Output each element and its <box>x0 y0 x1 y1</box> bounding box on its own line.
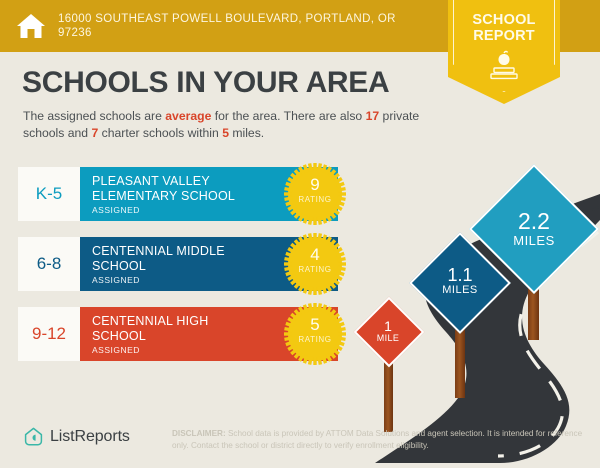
badge-title-line2: REPORT <box>448 28 560 44</box>
rating-burst: 9 RATING <box>284 163 346 225</box>
school-name: CENTENNIAL MIDDLE SCHOOL <box>92 244 262 273</box>
school-row[interactable]: 9-12 CENTENNIAL HIGH SCHOOL ASSIGNED <box>18 307 338 361</box>
subtitle-part1: The assigned schools are <box>23 109 165 123</box>
starburst-icon <box>284 163 346 225</box>
footer: ListReports DISCLAIMER: School data is p… <box>0 416 600 463</box>
distance-sign-3: 2.2 MILES <box>470 178 598 328</box>
rating-value: 4 <box>284 246 346 263</box>
subtitle-part5: miles. <box>229 126 264 140</box>
disclaimer-text: DISCLAIMER: School data is provided by A… <box>172 428 584 451</box>
school-row[interactable]: 6-8 CENTENNIAL MIDDLE SCHOOL ASSIGNED <box>18 237 338 291</box>
school-name: CENTENNIAL HIGH SCHOOL <box>92 314 262 343</box>
disclaimer-body: School data is provided by ATTOM Data So… <box>172 429 582 450</box>
property-address: 16000 SOUTHEAST POWELL BOULEVARD, PORTLA… <box>58 12 408 40</box>
subtitle-highlight-radius: 5 <box>222 126 229 140</box>
listreports-house-pin-icon <box>24 427 43 447</box>
grade-label: 9-12 <box>32 324 66 344</box>
house-icon <box>16 12 46 40</box>
subtitle-highlight-private-count: 17 <box>366 109 380 123</box>
badge-title-line1: SCHOOL <box>448 12 560 28</box>
subtitle-part4: charter schools within <box>98 126 222 140</box>
school-list: K-5 PLEASANT VALLEY ELEMENTARY SCHOOL AS… <box>18 167 338 377</box>
grade-badge: 6-8 <box>18 237 80 291</box>
school-report-badge: SCHOOL REPORT <box>448 0 560 104</box>
page-subtitle: The assigned schools are average for the… <box>23 108 423 142</box>
grade-label: 6-8 <box>37 254 62 274</box>
grade-label: K-5 <box>36 184 62 204</box>
starburst-icon <box>284 233 346 295</box>
listreports-logo-text: ListReports <box>50 428 130 446</box>
sign-value: 2.2 <box>470 210 598 233</box>
grade-badge: 9-12 <box>18 307 80 361</box>
disclaimer-label: DISCLAIMER: <box>172 429 226 438</box>
rating-value: 9 <box>284 176 346 193</box>
school-name: PLEASANT VALLEY ELEMENTARY SCHOOL <box>92 174 262 203</box>
rating-label: RATING <box>284 265 346 274</box>
starburst-icon <box>284 303 346 365</box>
listreports-logo[interactable]: ListReports <box>24 427 130 447</box>
sign-unit: MILES <box>470 234 598 247</box>
rating-burst: 5 RATING <box>284 303 346 365</box>
sign-text: 2.2 MILES <box>470 210 598 248</box>
page-title: SCHOOLS IN YOUR AREA <box>22 66 389 100</box>
subtitle-highlight-rating: average <box>165 109 211 123</box>
rating-label: RATING <box>284 335 346 344</box>
rating-value: 5 <box>284 316 346 333</box>
rating-label: RATING <box>284 195 346 204</box>
school-row[interactable]: K-5 PLEASANT VALLEY ELEMENTARY SCHOOL AS… <box>18 167 338 221</box>
apple-and-books-icon <box>482 50 526 80</box>
subtitle-part2: for the area. There are also <box>211 109 365 123</box>
grade-badge: K-5 <box>18 167 80 221</box>
rating-burst: 4 RATING <box>284 233 346 295</box>
